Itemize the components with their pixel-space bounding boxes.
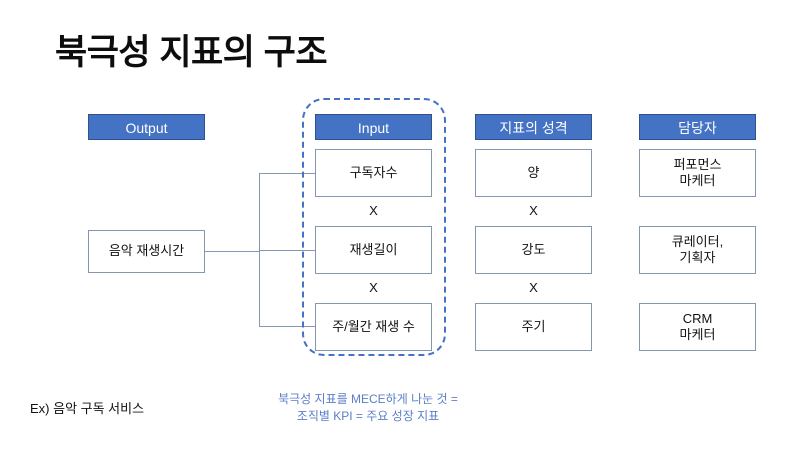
metric-type-box-2[interactable]: 강도	[475, 226, 592, 274]
input-box-1[interactable]: 구독자수	[315, 149, 432, 197]
multiply-separator-input-2: X	[315, 280, 432, 295]
mece-note: 북극성 지표를 MECE하게 나눈 것 = 조직별 KPI = 주요 성장 지표	[243, 391, 493, 426]
example-note: Ex) 음악 구독 서비스	[30, 398, 144, 417]
multiply-separator-input-1: X	[315, 203, 432, 218]
input-box-3[interactable]: 주/월간 재생 수	[315, 303, 432, 351]
metric-type-box-3[interactable]: 주기	[475, 303, 592, 351]
owner-box-3[interactable]: CRM 마케터	[639, 303, 756, 351]
owner-box-2[interactable]: 큐레이터, 기획자	[639, 226, 756, 274]
multiply-separator-type-2: X	[475, 280, 592, 295]
multiply-separator-type-1: X	[475, 203, 592, 218]
owner-box-1[interactable]: 퍼포먼스 마케터	[639, 149, 756, 197]
output-node-box[interactable]: 음악 재생시간	[88, 230, 205, 273]
slide-canvas: 북극성 지표의 구조 Output Input 지표의 성격 담당자 음악 재생…	[0, 0, 800, 450]
column-header-metric-type[interactable]: 지표의 성격	[475, 114, 592, 140]
page-title: 북극성 지표의 구조	[55, 34, 327, 73]
column-header-owner[interactable]: 담당자	[639, 114, 756, 140]
column-header-input[interactable]: Input	[315, 114, 432, 140]
metric-type-box-1[interactable]: 양	[475, 149, 592, 197]
input-box-2[interactable]: 재생길이	[315, 226, 432, 274]
column-header-output[interactable]: Output	[88, 114, 205, 140]
